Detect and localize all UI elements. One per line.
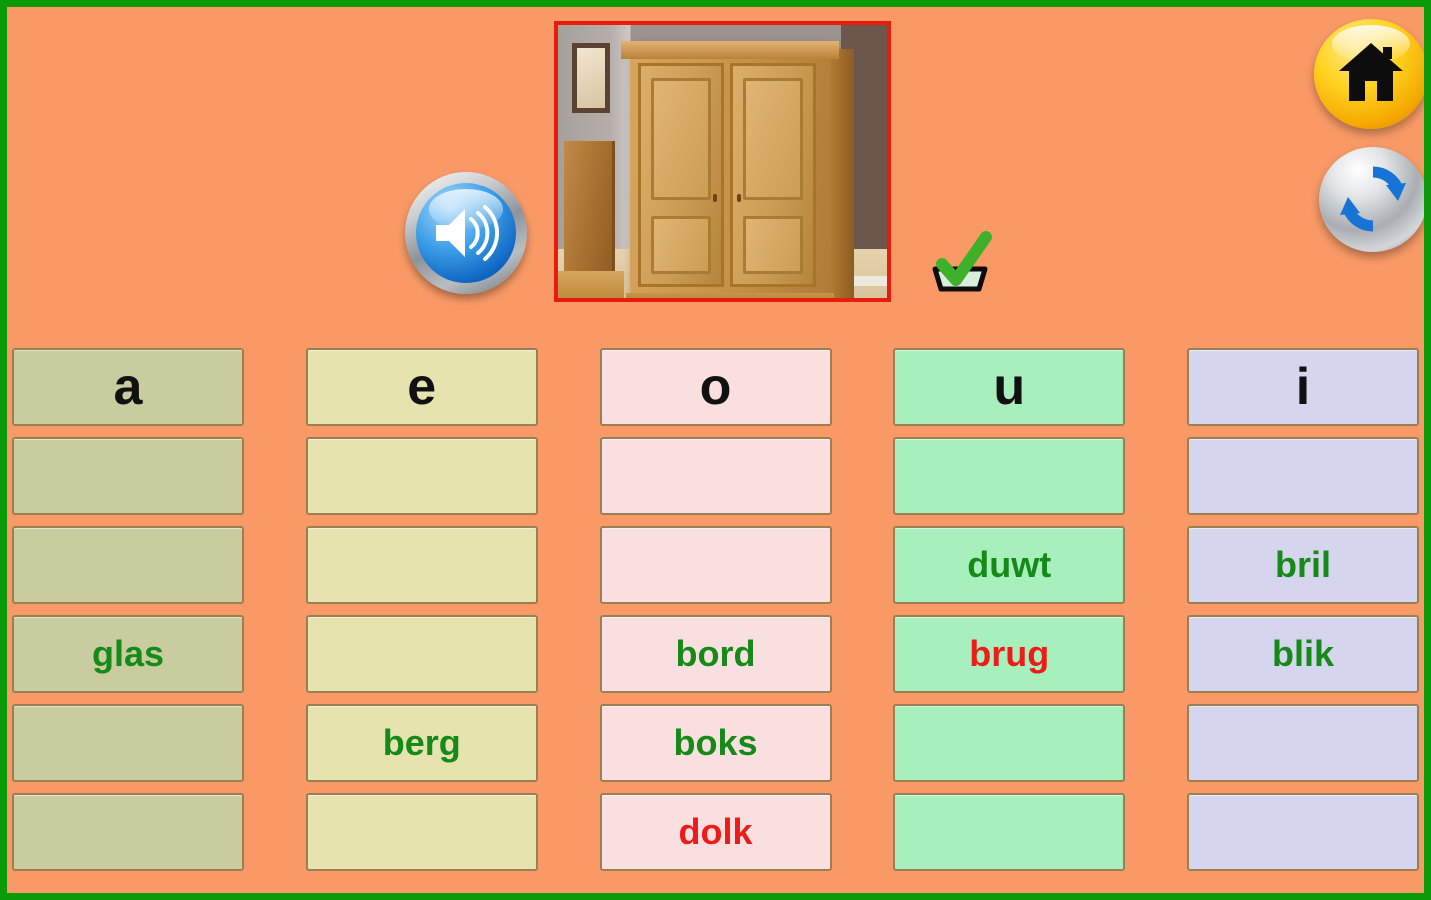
word-label: berg	[383, 725, 461, 761]
word-label: duwt	[967, 547, 1051, 583]
door-knob	[713, 194, 717, 202]
wardrobe-left-door	[638, 63, 724, 287]
word-slot[interactable]	[306, 526, 538, 604]
vowel-column-a: a glas	[12, 348, 244, 900]
checkmark-tray-icon[interactable]	[923, 223, 997, 297]
word-slot[interactable]	[1187, 437, 1419, 515]
wardrobe-plinth	[626, 293, 834, 302]
word-slot[interactable]	[893, 437, 1125, 515]
scene-small-table	[558, 271, 624, 302]
column-header-a[interactable]: a	[12, 348, 244, 426]
word-slot[interactable]: brug	[893, 615, 1125, 693]
word-label: blik	[1272, 636, 1334, 672]
word-slot[interactable]: boks	[600, 704, 832, 782]
word-slot[interactable]	[12, 437, 244, 515]
word-slot[interactable]	[12, 793, 244, 871]
vowel-column-o: o bord boks dolk	[600, 348, 832, 900]
word-slot[interactable]	[306, 437, 538, 515]
door-panel-upper	[651, 78, 711, 200]
word-label: boks	[673, 725, 757, 761]
app-root: a glas e	[0, 0, 1431, 900]
column-header-u[interactable]: u	[893, 348, 1125, 426]
vowel-column-e: e berg	[306, 348, 538, 900]
refresh-button[interactable]	[1319, 147, 1427, 252]
word-slot[interactable]: berg	[306, 704, 538, 782]
speaker-glyph	[430, 201, 502, 265]
column-header-e[interactable]: e	[306, 348, 538, 426]
column-header-i[interactable]: i	[1187, 348, 1419, 426]
word-label: bril	[1275, 547, 1331, 583]
word-grid: a glas e	[7, 348, 1424, 900]
home-button[interactable]	[1314, 19, 1428, 129]
word-slot[interactable]	[893, 704, 1125, 782]
word-slot[interactable]	[306, 793, 538, 871]
vowel-column-u: u duwt brug	[893, 348, 1125, 900]
door-panel-lower	[651, 216, 711, 274]
wardrobe-side-panel	[830, 49, 854, 301]
door-panel-lower	[743, 216, 803, 274]
prompt-area	[7, 7, 1424, 340]
scene-wardrobe	[630, 41, 830, 299]
word-slot[interactable]	[1187, 793, 1419, 871]
refresh-icon	[1336, 163, 1410, 235]
word-slot[interactable]	[306, 615, 538, 693]
word-slot[interactable]	[600, 526, 832, 604]
word-label: bord	[676, 636, 756, 672]
word-slot[interactable]: bril	[1187, 526, 1419, 604]
sound-button[interactable]	[405, 172, 527, 294]
door-panel-upper	[743, 78, 803, 200]
prompt-image-scene	[558, 25, 887, 298]
word-slot[interactable]	[1187, 704, 1419, 782]
word-slot[interactable]: glas	[12, 615, 244, 693]
word-slot[interactable]: duwt	[893, 526, 1125, 604]
refresh-button-face	[1319, 147, 1427, 252]
scene-side-cabinet	[564, 141, 615, 281]
home-icon	[1337, 41, 1405, 103]
word-label: dolk	[678, 814, 752, 850]
word-slot[interactable]: bord	[600, 615, 832, 693]
vowel-column-i: i bril blik	[1187, 348, 1419, 900]
prompt-image[interactable]	[554, 21, 891, 302]
word-slot[interactable]	[12, 526, 244, 604]
column-header-o[interactable]: o	[600, 348, 832, 426]
word-slot[interactable]	[893, 793, 1125, 871]
checkmark-tray-glyph	[923, 223, 997, 297]
word-label: glas	[92, 636, 164, 672]
word-slot[interactable]	[12, 704, 244, 782]
door-knob	[737, 194, 741, 202]
wardrobe-right-door	[730, 63, 816, 287]
word-slot[interactable]: blik	[1187, 615, 1419, 693]
speaker-icon	[416, 183, 516, 283]
word-slot[interactable]: dolk	[600, 793, 832, 871]
word-label: brug	[969, 636, 1049, 672]
word-slot[interactable]	[600, 437, 832, 515]
home-button-face	[1314, 19, 1428, 129]
wardrobe-cornice	[621, 41, 839, 59]
scene-wall-picture	[572, 43, 610, 113]
